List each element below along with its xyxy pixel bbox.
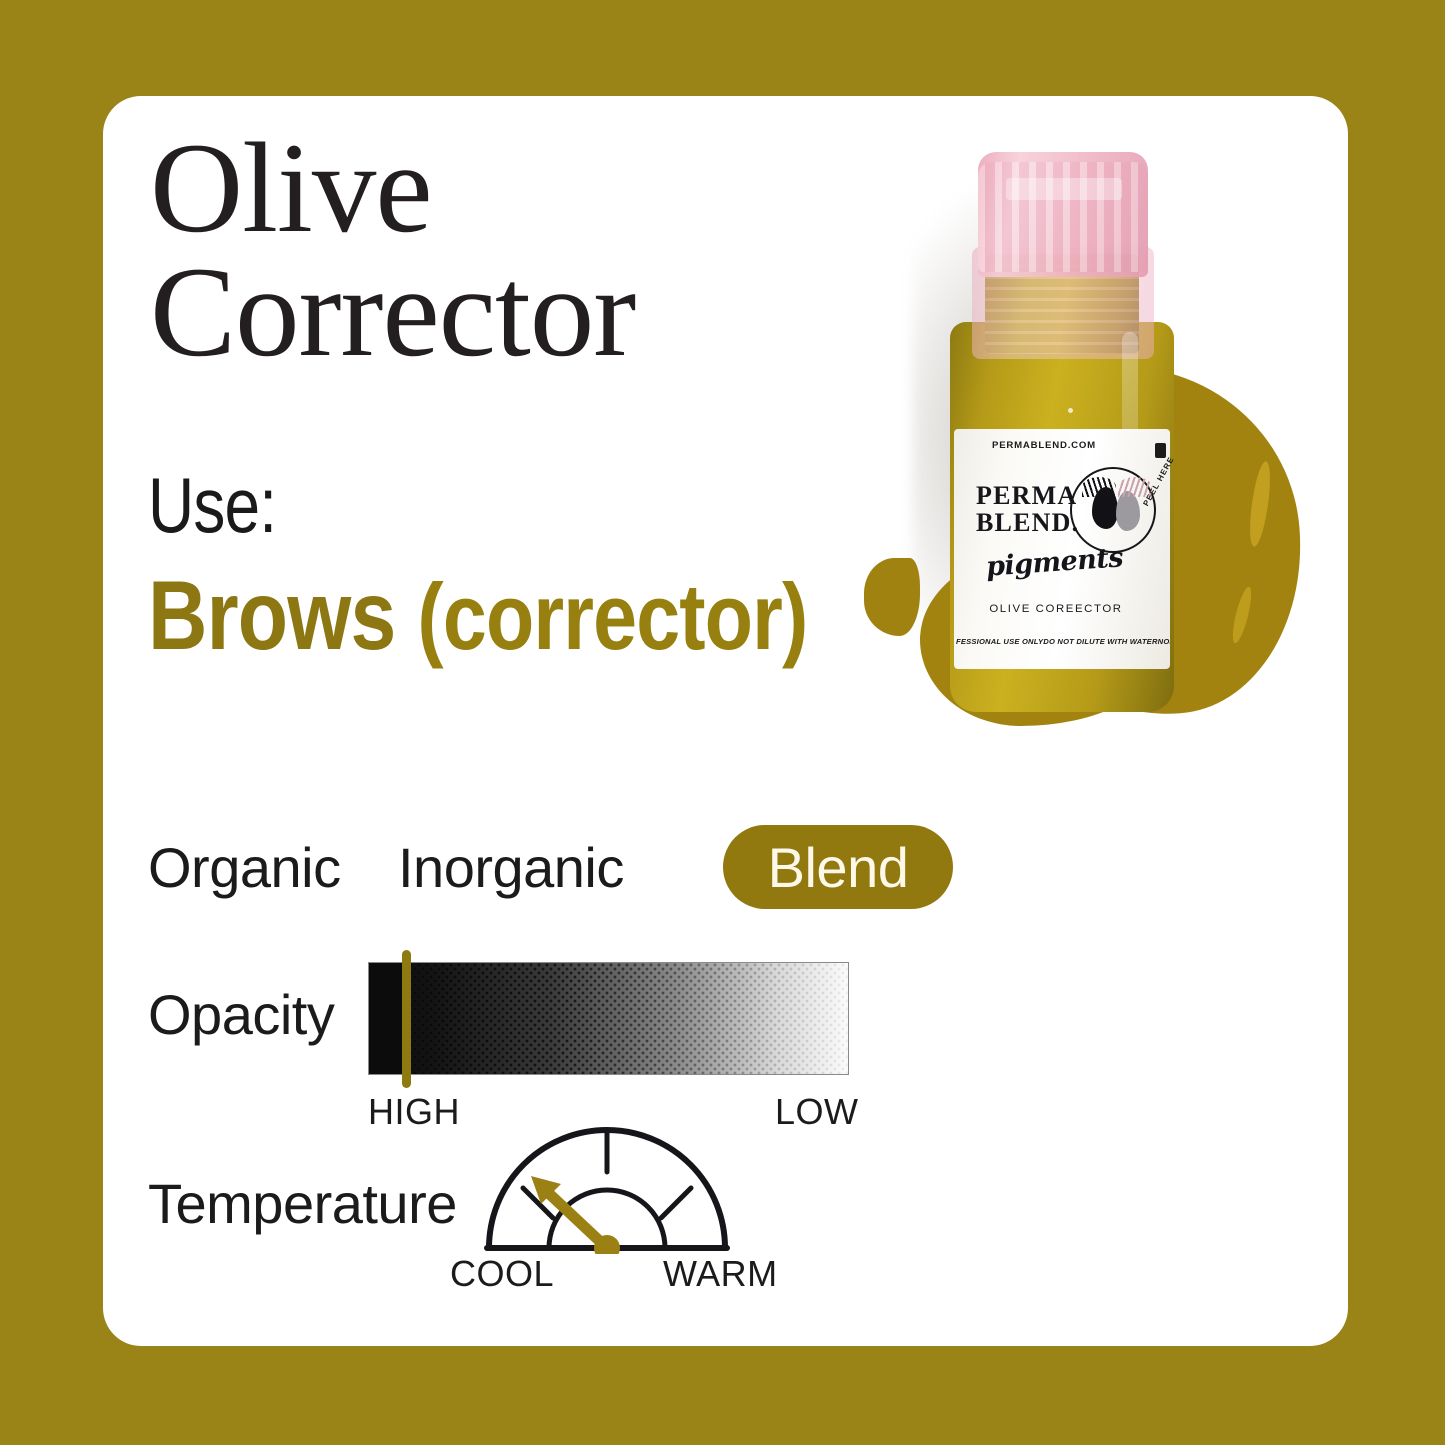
pigment-spill-tail [864, 558, 920, 636]
opacity-gradient-bar [368, 962, 849, 1075]
pigment-type-option-inorganic[interactable]: Inorganic [398, 821, 624, 913]
use-value: Brows (corrector) [148, 566, 807, 664]
opacity-marker[interactable] [402, 950, 411, 1088]
pigment-type-blend-label: Blend [768, 835, 909, 900]
opacity-scale-high: HIGH [368, 1091, 460, 1133]
lash-dark-icon [1082, 477, 1116, 497]
temperature-scale-warm: WARM [663, 1253, 778, 1295]
title-line-1: Olive [150, 126, 910, 250]
use-label: Use: [148, 466, 276, 544]
info-card: Olive Corrector Use: Brows (corrector) [103, 96, 1348, 1346]
label-footer-center: DO NOT DILUTE WITH WATER [1043, 637, 1157, 646]
label-footer-left: FESSIONAL USE ONLY [956, 637, 1043, 646]
use-value-primary: Brows [148, 560, 395, 670]
temperature-gauge [483, 1126, 731, 1254]
label-brand: PERMA BLEND. [976, 483, 1079, 536]
product-info-card-canvas: Olive Corrector Use: Brows (corrector) [0, 0, 1445, 1445]
gauge-tick-warm [661, 1188, 691, 1218]
bottle-label: PERMABLEND.COM PERMA BLEND. pigments PEE… [954, 429, 1170, 669]
title-line-2: Corrector [150, 250, 910, 374]
pigment-type-option-organic[interactable]: Organic [148, 821, 341, 913]
opacity-scale-low: LOW [775, 1091, 859, 1133]
brand-faces-logo-icon [1070, 467, 1156, 553]
label-shade-name: OLIVE COREECTOR [948, 603, 1164, 615]
label-website: PERMABLEND.COM [936, 440, 1152, 451]
label-footer-right: NON-TOXI [1158, 637, 1170, 646]
label-brand-line-2: BLEND. [976, 510, 1079, 537]
face-silhouette-gray-icon [1116, 491, 1140, 531]
pigment-type-organic-label: Organic [148, 835, 341, 900]
pigment-bottle: PERMABLEND.COM PERMA BLEND. pigments PEE… [950, 152, 1174, 712]
bottle-bubble [1068, 408, 1073, 413]
temperature-scale-cool: COOL [450, 1253, 554, 1295]
temperature-gauge-icon [483, 1126, 731, 1254]
use-value-secondary: (corrector) [417, 564, 807, 669]
pigment-type-inorganic-label: Inorganic [398, 835, 624, 900]
product-photo: PERMABLEND.COM PERMA BLEND. pigments PEE… [860, 116, 1330, 741]
bottle-cap-notch [1006, 178, 1122, 200]
opacity-halftone-dots [369, 963, 848, 1074]
peel-tab-icon [1155, 443, 1166, 458]
opacity-label: Opacity [148, 982, 334, 1047]
label-footer: FESSIONAL USE ONLY DO NOT DILUTE WITH WA… [954, 637, 1170, 646]
temperature-label: Temperature [148, 1171, 457, 1236]
pigment-type-option-blend-selected[interactable]: Blend [723, 825, 953, 909]
label-brand-line-1: PERMA [976, 483, 1079, 510]
page-title: Olive Corrector [150, 126, 910, 374]
